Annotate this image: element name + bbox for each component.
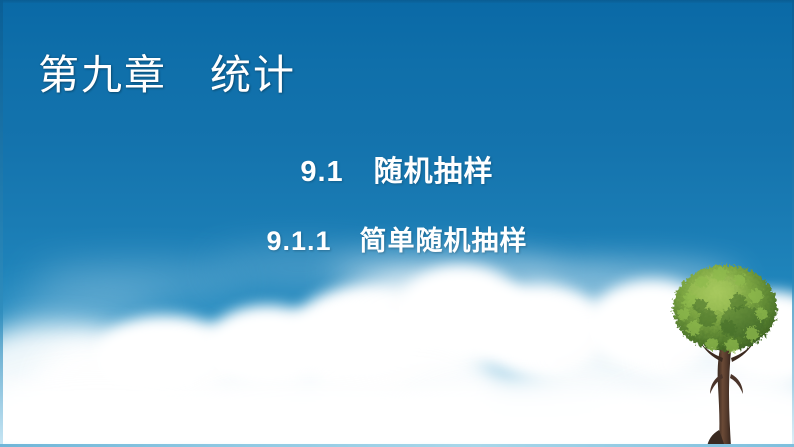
section-title: 9.1 随机抽样 (0, 148, 794, 190)
tree-canopy (673, 265, 777, 353)
tree-trunk (699, 340, 755, 447)
title-slide: 第九章 统计 9.1 随机抽样 9.1.1 简单随机抽样 (0, 0, 794, 447)
slide-border-left (0, 0, 3, 447)
slide-border-top (0, 0, 794, 3)
chapter-title: 第九章 统计 (38, 52, 296, 99)
subsection-title: 9.1.1 简单随机抽样 (0, 219, 794, 258)
tree-illustration (668, 262, 788, 447)
